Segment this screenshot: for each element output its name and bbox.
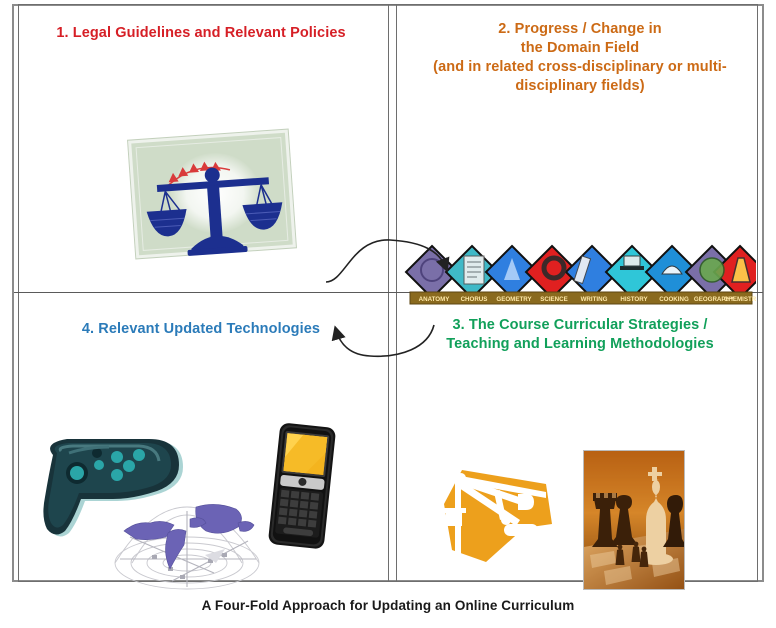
vertical-divider-left [388,5,389,581]
four-fold-diagram: 1. Legal Guidelines and Relevant Policie… [0,0,776,628]
quadrant-2-progress-change: 2. Progress / Change in the Domain Field… [398,6,762,291]
quadrant-2-title: 2. Progress / Change in the Domain Field… [398,6,762,96]
quadrant-4-title: 4. Relevant Updated Technologies [15,294,387,339]
smartphone-image [268,421,338,551]
balance-scale-icon [140,141,290,259]
scales-of-justice-image [132,135,304,263]
quadrant-1-legal-guidelines: 1. Legal Guidelines and Relevant Policie… [15,6,387,291]
figure-caption: A Four-Fold Approach for Updating an Onl… [0,598,776,613]
quadrant-1-title: 1. Legal Guidelines and Relevant Policie… [15,6,387,43]
vertical-divider-right [396,5,397,581]
quadrant-3-curricular-strategies: 3. The Course Curricular Strategies / Te… [398,294,762,581]
crane-icon [428,458,568,568]
globe-network-image [110,497,265,592]
quadrant-3-title: 3. The Course Curricular Strategies / Te… [398,294,762,354]
chess-photo [583,450,685,590]
chess-photo-svg [584,451,684,589]
quadrant-4-relevant-technologies: 4. Relevant Updated Technologies [15,294,387,581]
